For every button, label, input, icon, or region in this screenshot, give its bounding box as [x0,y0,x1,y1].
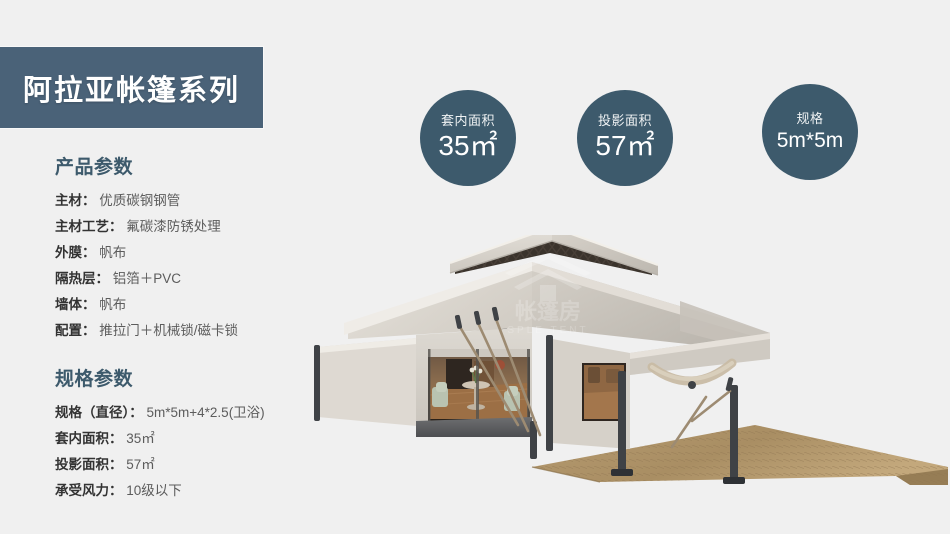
badge-label: 投影面积 [598,114,652,129]
stat-badge-dimensions: 规格 5m*5m [762,84,858,180]
spec-value: 氟碳漆防锈处理 [126,219,221,234]
tent-render-svg: 帐篷房 SPLE TENT [300,235,950,505]
spec-key: 主材： [55,193,96,208]
spec-value: 帆布 [99,297,126,312]
spec-value: 优质碳钢钢管 [99,193,180,208]
spec-value: 57㎡ [126,457,155,472]
spec-key: 主材工艺： [55,219,123,234]
spec-value: 推拉门＋机械锁/磁卡锁 [99,323,238,338]
spec-key: 隔热层： [55,271,109,286]
spec-value: 35㎡ [126,431,155,446]
spec-key: 配置： [55,323,96,338]
spec-key: 套内面积： [55,431,123,446]
tent-illustration: 帐篷房 SPLE TENT [300,235,950,505]
product-params-heading: 产品参数 [55,152,355,179]
spec-value: 铝箔＋PVC [113,271,181,286]
product-detail-page: 阿拉亚帐篷系列 产品参数 主材： 优质碳钢钢管 主材工艺： 氟碳漆防锈处理 外膜… [0,0,950,534]
spec-key: 规格（直径）： [55,405,143,420]
spec-row: 主材： 优质碳钢钢管 [55,188,355,214]
spec-key: 承受风力： [55,483,123,498]
badge-value: 5m*5m [777,129,844,152]
spec-key: 投影面积： [55,457,123,472]
stat-badge-interior-area: 套内面积 35㎡ [420,90,516,186]
title-banner: 阿拉亚帐篷系列 [0,47,263,128]
right-wall [546,335,630,451]
spec-value: 帆布 [99,245,126,260]
watermark-sublabel: SPLE TENT [507,325,588,336]
page-title: 阿拉亚帐篷系列 [23,67,240,109]
badge-value: 35㎡ [438,131,497,162]
badge-label: 规格 [796,112,823,127]
badge-label: 套内面积 [441,114,495,129]
spec-key: 墙体： [55,297,96,312]
spec-key: 外膜： [55,245,96,260]
badge-value: 57㎡ [595,131,654,162]
spec-value: 5m*5m+4*2.5(卫浴) [147,405,265,420]
watermark-label: 帐篷房 [515,299,581,324]
stat-badge-projected-area: 投影面积 57㎡ [577,90,673,186]
spec-value: 10级以下 [126,483,182,498]
